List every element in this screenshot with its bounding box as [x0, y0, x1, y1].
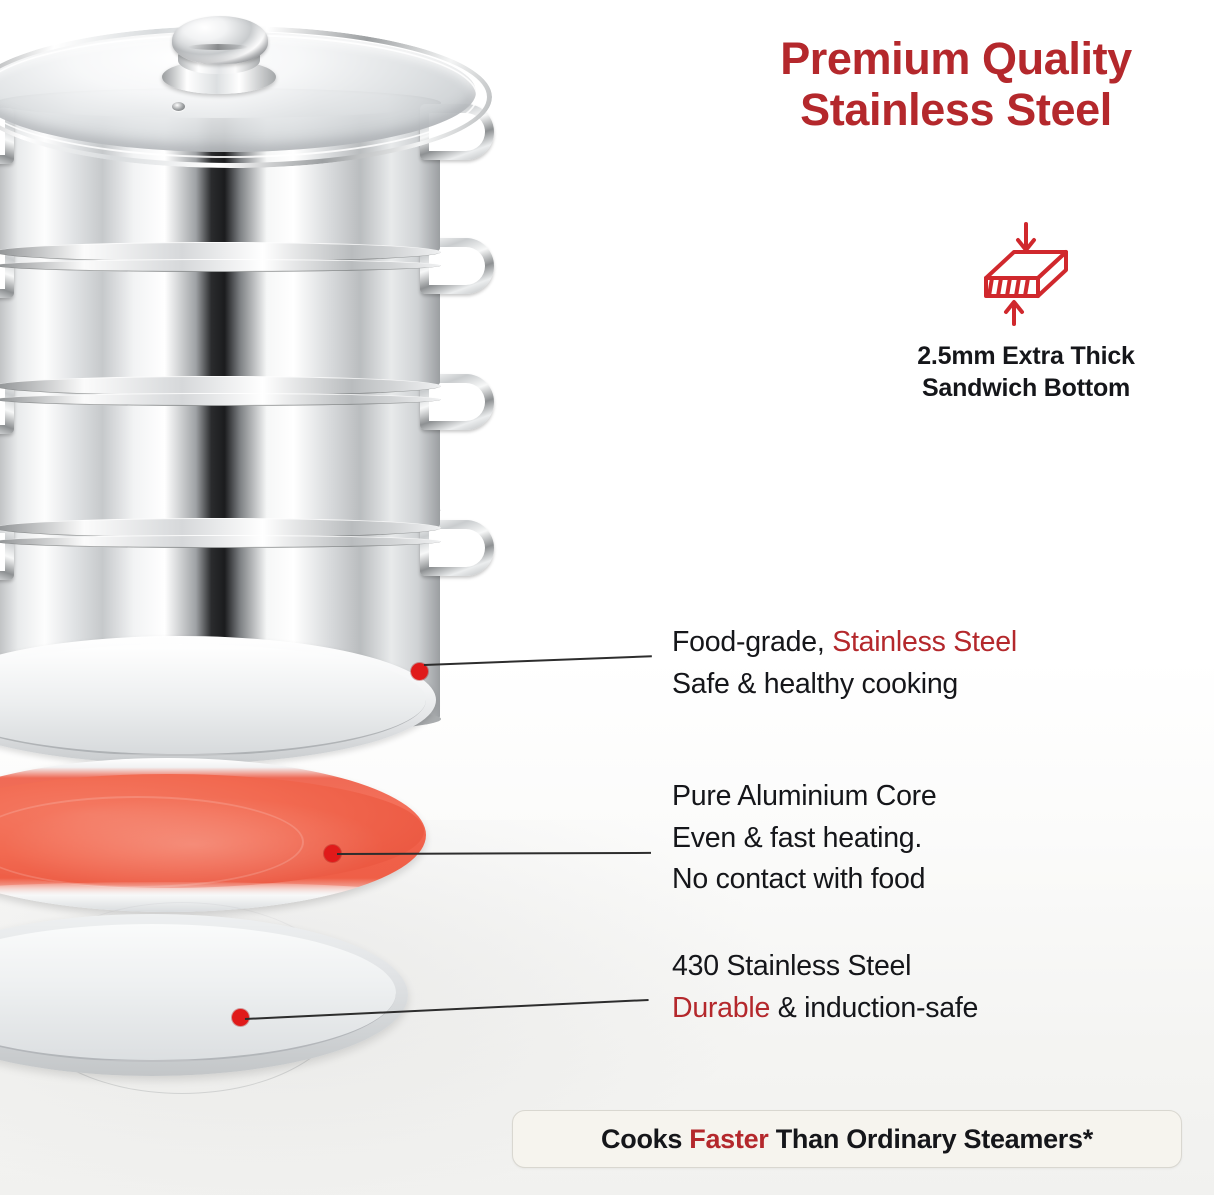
page-title: Premium Quality Stainless Steel [716, 34, 1196, 136]
feature-1-text-red: Stainless Steel [832, 626, 1017, 658]
footer-text-highlight: Faster [689, 1124, 768, 1154]
product-image-steamer [0, 0, 562, 1106]
lid-knob-cap [172, 16, 268, 64]
feature-2-line-1: Pure Aluminium Core [672, 776, 1192, 818]
feature-3-line-2: Durable & induction-safe [672, 988, 1192, 1030]
layer-aluminium-core-disc [0, 758, 426, 912]
sandwich-bottom-label: 2.5mm Extra Thick Sandwich Bottom [866, 340, 1186, 404]
steamer-handle-left-4 [0, 524, 14, 580]
footer-text-post: Than Ordinary Steamers* [769, 1124, 1093, 1154]
feature-1-line-1: Food-grade, Stainless Steel [672, 622, 1192, 664]
footer-claim-text: Cooks Faster Than Ordinary Steamers* [601, 1124, 1093, 1155]
tier-rim-band-thin [0, 535, 441, 548]
feature-3-line-1: 430 Stainless Steel [672, 946, 1192, 988]
feature-3-text-red: Durable [672, 992, 770, 1024]
feature-1-line-2: Safe & healthy cooking [672, 664, 1192, 706]
tier-rim-band-thin [0, 393, 441, 406]
feature-430-steel: 430 Stainless Steel Durable & induction-… [672, 946, 1192, 1029]
badge-line-2: Sandwich Bottom [866, 372, 1186, 404]
tier-rim-band-thin [0, 259, 441, 272]
feature-2-line-3: No contact with food [672, 859, 1192, 901]
feature-2-line-2: Even & fast heating. [672, 818, 1192, 860]
footer-claim-banner: Cooks Faster Than Ordinary Steamers* [512, 1110, 1182, 1168]
headline-line-2: Stainless Steel [716, 85, 1196, 136]
footer-text-pre: Cooks [601, 1124, 689, 1154]
feature-food-grade: Food-grade, Stainless Steel Safe & healt… [672, 622, 1192, 705]
headline-line-1: Premium Quality [716, 34, 1196, 85]
feature-1-text-black: Food-grade, [672, 626, 832, 658]
layer-stainless-steel-base-plate [0, 914, 408, 1076]
infographic-canvas: Premium Quality Stainless Steel [0, 0, 1214, 1195]
feature-3-text-black: & induction-safe [770, 992, 978, 1024]
glass-lid [0, 18, 476, 158]
sandwich-bottom-badge: 2.5mm Extra Thick Sandwich Bottom [866, 222, 1186, 404]
sandwich-bottom-icon [970, 222, 1082, 326]
lid-steam-vent-hole [172, 102, 185, 111]
feature-aluminium-core: Pure Aluminium Core Even & fast heating.… [672, 776, 1192, 901]
badge-line-1: 2.5mm Extra Thick [866, 340, 1186, 372]
